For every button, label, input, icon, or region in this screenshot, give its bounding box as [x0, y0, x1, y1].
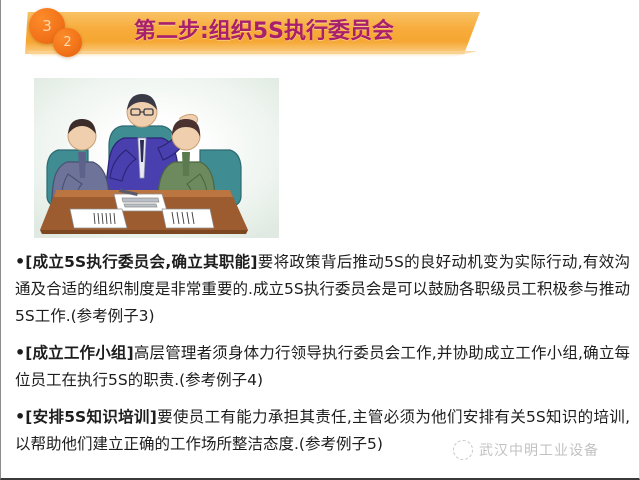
paragraph-2-lead: [成立工作小组]: [25, 344, 133, 362]
bullet-2: •: [15, 343, 25, 362]
page-title: 第二步:组织5S执行委员会: [134, 17, 394, 47]
step-circle-secondary: 2: [53, 28, 82, 57]
bullet-3: •: [15, 407, 25, 426]
paragraph-3-lead: [安排5S知识培训]: [25, 408, 157, 426]
paragraph-1: •[成立5S执行委员会,确立其职能]要将政策背后推动5S的良好动机变为实际行动,…: [15, 248, 630, 330]
bullet-1: •: [15, 252, 25, 271]
content-body: •[成立5S执行委员会,确立其职能]要将政策背后推动5S的良好动机变为实际行动,…: [15, 248, 630, 458]
paragraph-3: •[安排5S知识培训]要使员工有能力承担其责任,主管必须为他们安排有关5S知识的…: [15, 403, 630, 458]
banner-shadow-strip: [27, 51, 477, 57]
meeting-illustration-graphic: [34, 78, 279, 238]
title-banner: 第二步:组织5S执行委员会 3 2: [1, 4, 640, 62]
paragraph-1-lead: [成立5S执行委员会,确立其职能]: [25, 253, 257, 271]
paragraph-2: •[成立工作小组]高层管理者须身体力行领导执行委员会工作,并协助成立工作小组,确…: [15, 339, 630, 394]
meeting-illustration: [34, 78, 279, 238]
slide-page: 第二步:组织5S执行委员会 3 2: [0, 0, 640, 480]
